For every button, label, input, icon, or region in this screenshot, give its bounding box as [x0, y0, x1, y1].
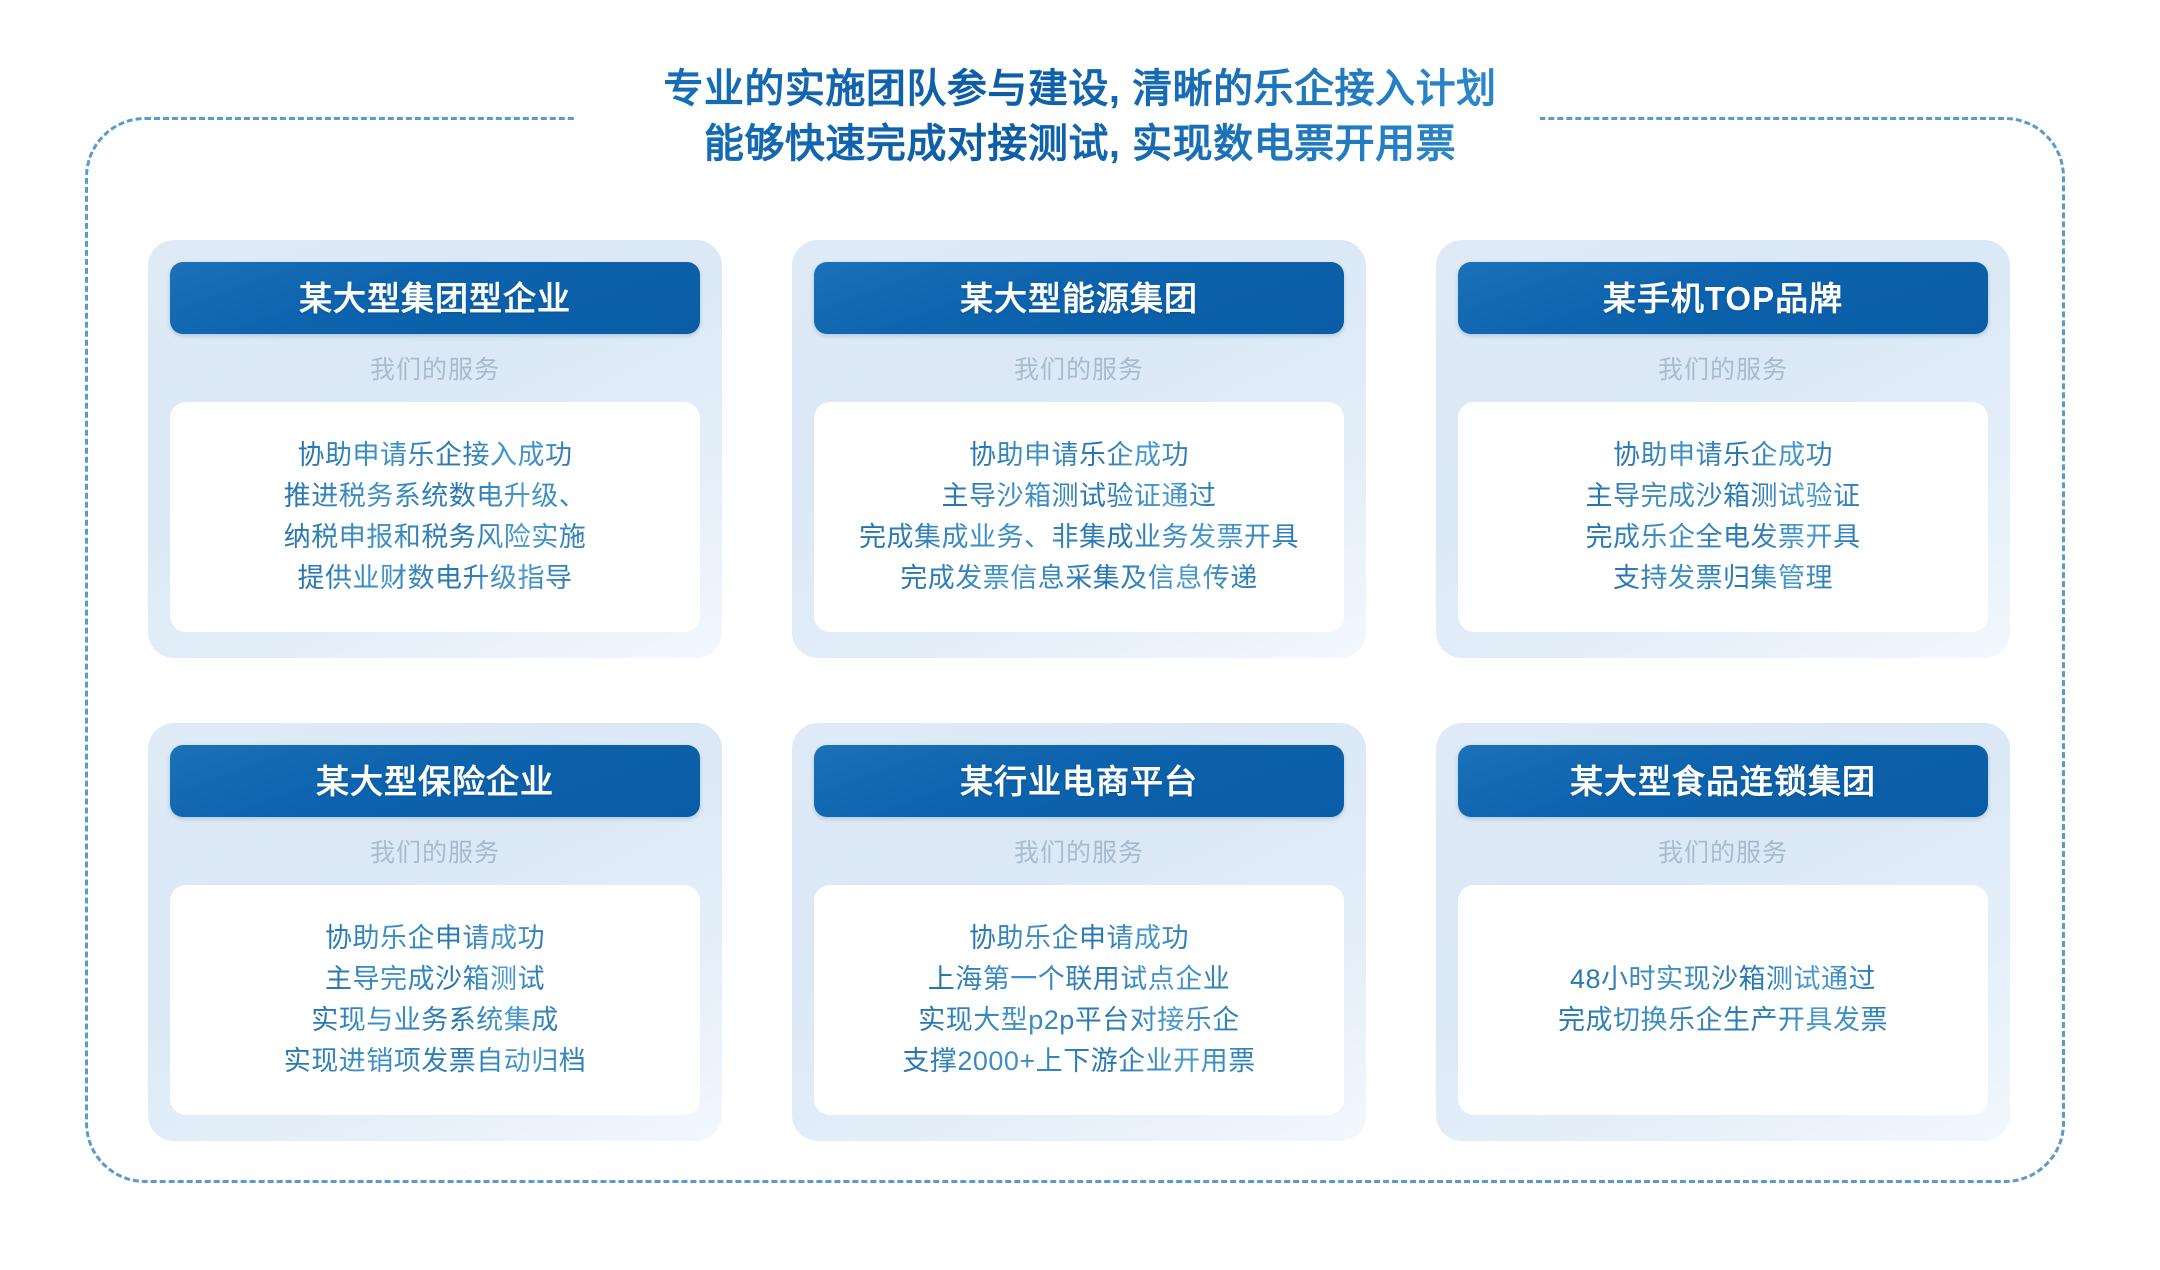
- case-card-header: 某大型保险企业: [170, 745, 700, 817]
- case-card-subtitle: 我们的服务: [170, 817, 700, 885]
- service-item: 主导沙箱测试验证通过: [942, 476, 1217, 517]
- page-title-line-2: 能够快速完成对接测试, 实现数电票开用票: [0, 117, 2160, 172]
- case-card: 某大型能源集团我们的服务协助申请乐企成功主导沙箱测试验证通过完成集成业务、非集成…: [792, 240, 1366, 658]
- case-card-service-list: 48小时实现沙箱测试通过完成切换乐企生产开具发票: [1458, 885, 1988, 1115]
- service-item: 主导完成沙箱测试: [325, 959, 545, 1000]
- case-card-header: 某大型集团型企业: [170, 262, 700, 334]
- service-item: 完成切换乐企生产开具发票: [1558, 1000, 1888, 1041]
- case-card-header: 某大型食品连锁集团: [1458, 745, 1988, 817]
- service-item: 实现进销项发票自动归档: [284, 1041, 587, 1082]
- case-card-title: 某大型集团型企业: [299, 282, 571, 315]
- case-card-title: 某手机TOP品牌: [1603, 282, 1843, 315]
- service-item: 主导完成沙箱测试验证: [1586, 476, 1861, 517]
- service-item: 上海第一个联用试点企业: [928, 959, 1231, 1000]
- service-item: 协助乐企申请成功: [325, 918, 545, 959]
- case-card-service-list: 协助申请乐企成功主导沙箱测试验证通过完成集成业务、非集成业务发票开具完成发票信息…: [814, 402, 1344, 632]
- service-item: 协助乐企申请成功: [969, 918, 1189, 959]
- case-card: 某大型保险企业我们的服务协助乐企申请成功主导完成沙箱测试实现与业务系统集成实现进…: [148, 723, 722, 1141]
- case-card: 某行业电商平台我们的服务协助乐企申请成功上海第一个联用试点企业实现大型p2p平台…: [792, 723, 1366, 1141]
- service-item: 完成集成业务、非集成业务发票开具: [859, 517, 1299, 558]
- case-card-title: 某行业电商平台: [960, 765, 1198, 798]
- case-card-service-list: 协助申请乐企成功主导完成沙箱测试验证完成乐企全电发票开具支持发票归集管理: [1458, 402, 1988, 632]
- case-card-subtitle: 我们的服务: [170, 334, 700, 402]
- service-item: 协助申请乐企接入成功: [298, 435, 573, 476]
- service-item: 完成乐企全电发票开具: [1586, 517, 1861, 558]
- case-card-subtitle: 我们的服务: [814, 817, 1344, 885]
- case-card-subtitle: 我们的服务: [1458, 817, 1988, 885]
- case-card-header: 某手机TOP品牌: [1458, 262, 1988, 334]
- case-card-subtitle: 我们的服务: [814, 334, 1344, 402]
- service-item: 实现大型p2p平台对接乐企: [918, 1000, 1240, 1041]
- case-card-service-list: 协助申请乐企接入成功推进税务系统数电升级、纳税申报和税务风险实施提供业财数电升级…: [170, 402, 700, 632]
- case-card: 某大型集团型企业我们的服务协助申请乐企接入成功推进税务系统数电升级、纳税申报和税…: [148, 240, 722, 658]
- case-card-title: 某大型食品连锁集团: [1570, 765, 1876, 798]
- case-card-title: 某大型保险企业: [316, 765, 554, 798]
- service-item: 纳税申报和税务风险实施: [284, 517, 587, 558]
- case-card: 某手机TOP品牌我们的服务协助申请乐企成功主导完成沙箱测试验证完成乐企全电发票开…: [1436, 240, 2010, 658]
- service-item: 支持发票归集管理: [1613, 558, 1833, 599]
- case-card-grid: 某大型集团型企业我们的服务协助申请乐企接入成功推进税务系统数电升级、纳税申报和税…: [148, 240, 2010, 1141]
- case-card-service-list: 协助乐企申请成功主导完成沙箱测试实现与业务系统集成实现进销项发票自动归档: [170, 885, 700, 1115]
- case-card-header: 某大型能源集团: [814, 262, 1344, 334]
- service-item: 协助申请乐企成功: [1613, 435, 1833, 476]
- service-item: 完成发票信息采集及信息传递: [900, 558, 1258, 599]
- case-card-title: 某大型能源集团: [960, 282, 1198, 315]
- service-item: 实现与业务系统集成: [311, 1000, 559, 1041]
- page-title-line-1: 专业的实施团队参与建设, 清晰的乐企接入计划: [0, 62, 2160, 117]
- case-card-header: 某行业电商平台: [814, 745, 1344, 817]
- case-card-service-list: 协助乐企申请成功上海第一个联用试点企业实现大型p2p平台对接乐企支撑2000+上…: [814, 885, 1344, 1115]
- service-item: 提供业财数电升级指导: [298, 558, 573, 599]
- service-item: 48小时实现沙箱测试通过: [1570, 959, 1876, 1000]
- page-title: 专业的实施团队参与建设, 清晰的乐企接入计划 能够快速完成对接测试, 实现数电票…: [0, 62, 2160, 172]
- service-item: 推进税务系统数电升级、: [284, 476, 587, 517]
- case-card-subtitle: 我们的服务: [1458, 334, 1988, 402]
- service-item: 协助申请乐企成功: [969, 435, 1189, 476]
- service-item: 支撑2000+上下游企业开用票: [902, 1041, 1255, 1082]
- case-card: 某大型食品连锁集团我们的服务48小时实现沙箱测试通过完成切换乐企生产开具发票: [1436, 723, 2010, 1141]
